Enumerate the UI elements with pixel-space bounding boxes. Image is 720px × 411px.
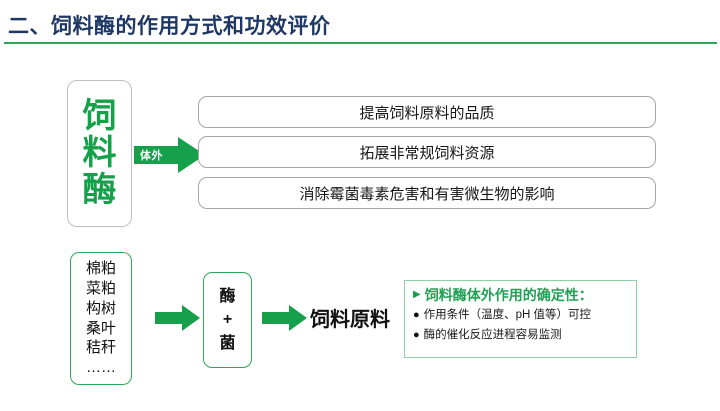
feed-enzyme-source-box: 饲料 酶 [67,80,132,227]
raw-materials-box: 棉粕 菜粕 构树 桑叶 秸秆 …… [70,252,132,385]
title-underline-rule [4,42,717,44]
in-vitro-arrow: 体外 [134,136,206,174]
dot-bullet-icon: ● [413,307,420,324]
info-heading-row: ▶ 饲料酶体外作用的确定性： [413,286,630,304]
slide-canvas: 二、饲料酶的作用方式和功效评价 饲料 酶 体外 提高饲料原料的品质 拓展非常规饲… [0,0,720,411]
arrow-right-icon [262,305,308,331]
info-item-text: 酶的催化反应进程容易监测 [424,327,562,344]
enzyme-microbe-label: 酶 + 菌 [219,285,235,355]
process-arrow-1 [155,305,201,331]
arrow-right-icon [155,305,201,331]
feed-enzyme-source-label: 饲料 酶 [68,98,131,208]
raw-materials-list: 棉粕 菜粕 构树 桑叶 秸秆 …… [86,259,116,378]
triangle-bullet-icon: ▶ [413,286,421,304]
info-item-text: 作用条件（温度、pH 值等）可控 [424,307,591,324]
info-heading-text: 饲料酶体外作用的确定性： [425,286,593,304]
certainty-info-box: ▶ 饲料酶体外作用的确定性： ● 作用条件（温度、pH 值等）可控 ● 酶的催化… [404,280,637,358]
outcome-box: 消除霉菌毒素危害和有害微生物的影响 [198,177,656,209]
process-arrow-2 [262,305,308,331]
page-title: 二、饲料酶的作用方式和功效评价 [8,10,331,40]
enzyme-microbe-box: 酶 + 菌 [203,272,252,368]
info-item-row: ● 酶的催化反应进程容易监测 [413,327,630,344]
outcome-box: 拓展非常规饲料资源 [198,136,656,168]
product-output-label: 饲料原料 [310,303,390,332]
outcome-box: 提高饲料原料的品质 [198,96,656,128]
dot-bullet-icon: ● [413,327,420,344]
info-item-row: ● 作用条件（温度、pH 值等）可控 [413,307,630,324]
in-vitro-arrow-label: 体外 [140,147,163,163]
